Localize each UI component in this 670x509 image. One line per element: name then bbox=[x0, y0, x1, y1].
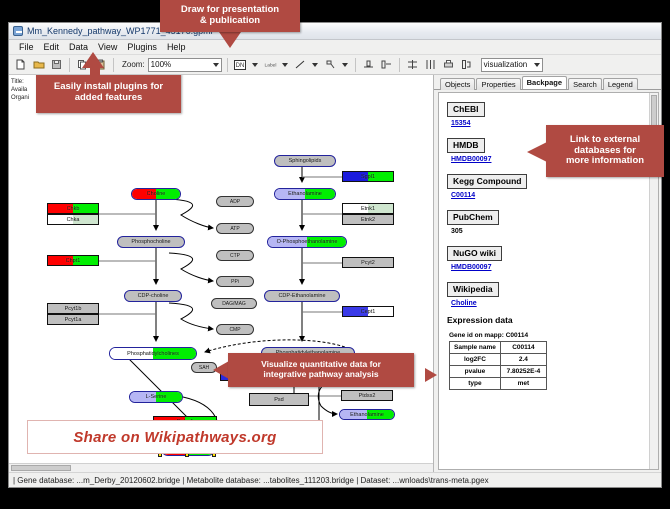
gene-node[interactable]: Etnk2 bbox=[342, 214, 394, 225]
node-label: ADP bbox=[230, 199, 240, 205]
cofactor-node[interactable]: DAG/MAG bbox=[211, 298, 257, 309]
chevron-down-icon bbox=[213, 63, 219, 67]
node-label: DAG/MAG bbox=[222, 301, 246, 307]
callout-plugins-line2: added features bbox=[75, 93, 143, 104]
chevron-down-icon bbox=[534, 63, 540, 67]
backpage-link-kegg[interactable]: C00114 bbox=[451, 192, 658, 199]
menu-help[interactable]: Help bbox=[162, 42, 191, 52]
node-label: Ethanolamine bbox=[350, 412, 384, 418]
callout-visualize: Visualize quantitative data for integrat… bbox=[228, 353, 414, 387]
menu-bar: File Edit Data View Plugins Help bbox=[9, 40, 661, 55]
gene-node[interactable]: Ptdss2 bbox=[341, 390, 393, 401]
backpage-head-pubchem: PubChem bbox=[447, 210, 499, 225]
callout-visualize-arrow bbox=[213, 361, 229, 379]
node-label: CDP-choline bbox=[138, 293, 169, 299]
metabolite-node[interactable]: Phosphocholine bbox=[117, 236, 185, 248]
canvas-hscroll-thumb[interactable] bbox=[11, 465, 71, 471]
toolbar-separator bbox=[227, 58, 228, 72]
node-label: Pcyt1a bbox=[65, 317, 82, 323]
chevron-down-icon bbox=[282, 63, 288, 67]
backpage-head-wikipedia: Wikipedia bbox=[447, 282, 499, 297]
node-label: Etnk1 bbox=[361, 206, 375, 212]
node-label: O-Phosphoethanolamine bbox=[277, 239, 338, 245]
backpage-head-chebi: ChEBI bbox=[447, 102, 485, 117]
backpage-head-nugo: NuGO wiki bbox=[447, 246, 502, 261]
gene-node[interactable]: Chpt1 bbox=[47, 255, 99, 266]
node-label: Phosphocholine bbox=[131, 239, 170, 245]
callout-draw-line2: & publication bbox=[200, 16, 260, 27]
pathway-canvas[interactable]: Title: Availa Organi bbox=[9, 75, 434, 472]
backpage-link-nugo[interactable]: HMDB00097 bbox=[451, 264, 658, 271]
app-icon bbox=[13, 26, 23, 36]
callout-links-arrow-stem bbox=[545, 146, 551, 158]
node-label: Sphingolipids bbox=[289, 158, 322, 164]
chevron-down-icon bbox=[342, 63, 348, 67]
node-label: Pcyt2 bbox=[361, 260, 375, 266]
chevron-down-icon bbox=[252, 63, 258, 67]
canvas-hscrollbar[interactable] bbox=[9, 463, 433, 472]
label-icon[interactable]: Label bbox=[263, 57, 278, 72]
expression-data-title: Expression data bbox=[447, 315, 658, 325]
backpage-link-wikipedia[interactable]: Choline bbox=[451, 300, 658, 307]
stack-icon[interactable] bbox=[405, 57, 420, 72]
line-dropdown[interactable] bbox=[311, 58, 320, 72]
cell-label: pvalue bbox=[450, 366, 501, 378]
backpage-value-pubchem: 305 bbox=[451, 228, 658, 235]
wikipathways-banner: Share on Wikipathways.org bbox=[27, 420, 323, 454]
node-label: Choline bbox=[147, 191, 166, 197]
callout-draw: Draw for presentation & publication bbox=[160, 0, 300, 32]
toolbar-separator bbox=[355, 58, 356, 72]
tab-backpage[interactable]: Backpage bbox=[522, 76, 567, 89]
callout-visualize-line2: integrative pathway analysis bbox=[263, 370, 378, 380]
svg-text:Label: Label bbox=[264, 63, 276, 69]
banner-text: Share on Wikipathways.org bbox=[73, 429, 276, 446]
pathvisio-window: Mm_Kennedy_pathway_WP1771_45176.gpml Fil… bbox=[8, 22, 662, 488]
zoom-value: 100% bbox=[151, 60, 171, 69]
node-label: L-Serine bbox=[146, 394, 167, 400]
callout-draw-arrow bbox=[219, 32, 241, 48]
order-icon[interactable] bbox=[459, 57, 474, 72]
node-label: Sgpl1 bbox=[361, 174, 375, 180]
gene-node[interactable]: Sgpl1 bbox=[342, 171, 394, 182]
menu-plugins[interactable]: Plugins bbox=[122, 42, 162, 52]
cofactor-node[interactable]: PPi bbox=[216, 276, 254, 287]
label-dropdown[interactable] bbox=[281, 58, 290, 72]
visualization-value: visualization bbox=[484, 60, 528, 69]
anchor-dropdown[interactable] bbox=[341, 58, 350, 72]
cell-label: type bbox=[450, 378, 501, 390]
side-panel-tabs: Objects Properties Backpage Search Legen… bbox=[434, 75, 661, 90]
svg-text:DN: DN bbox=[236, 63, 245, 69]
status-bar: | Gene database: ...m_Derby_20120602.bri… bbox=[9, 472, 661, 487]
callout-links-arrow bbox=[527, 142, 547, 162]
menu-file[interactable]: File bbox=[14, 42, 39, 52]
callout-plugins: Easily install plugins for added feature… bbox=[36, 75, 181, 113]
table-row: type met bbox=[450, 378, 547, 390]
gene-node[interactable]: Chkb bbox=[47, 203, 99, 214]
node-label: ATP bbox=[230, 226, 239, 232]
distribute-icon[interactable] bbox=[423, 57, 438, 72]
backpage-head-hmdb: HMDB bbox=[447, 138, 485, 153]
gene-node[interactable]: Etnk1 bbox=[342, 203, 394, 214]
metabolite-node[interactable]: Choline bbox=[131, 188, 181, 200]
datanode-icon[interactable]: DN bbox=[233, 57, 248, 72]
cell-value: 7.80252E-4 bbox=[500, 366, 546, 378]
table-row: log2FC 2.4 bbox=[450, 354, 547, 366]
node-label: Pcyt1b bbox=[65, 306, 82, 312]
group-icon[interactable] bbox=[379, 57, 394, 72]
line-icon[interactable] bbox=[293, 57, 308, 72]
new-icon[interactable] bbox=[13, 57, 28, 72]
cofactor-node[interactable]: ATP bbox=[216, 223, 254, 234]
open-icon[interactable] bbox=[31, 57, 46, 72]
metabolite-node[interactable]: Ethanolamine bbox=[274, 188, 336, 200]
node-label: SAH bbox=[199, 365, 209, 371]
screenshot-root: Mm_Kennedy_pathway_WP1771_45176.gpml Fil… bbox=[0, 0, 670, 509]
toolbar-separator bbox=[399, 58, 400, 72]
callout-links-line3: more information bbox=[566, 156, 644, 167]
save-icon[interactable] bbox=[49, 57, 64, 72]
node-label: Ethanolamine bbox=[288, 191, 322, 197]
callout-links: Link to external databases for more info… bbox=[546, 125, 664, 177]
node-label: Phosphatidylcholines bbox=[127, 351, 179, 357]
zoom-label: Zoom: bbox=[122, 60, 145, 69]
node-label: Chkb bbox=[67, 206, 80, 212]
tab-legend[interactable]: Legend bbox=[603, 78, 638, 90]
expression-table: Sample name C00114 log2FC 2.4 pvalue 7.8… bbox=[449, 341, 547, 390]
cell-value: 2.4 bbox=[500, 354, 546, 366]
callout-plugins-arrow-stem bbox=[90, 66, 100, 78]
menu-view[interactable]: View bbox=[93, 42, 122, 52]
callout-links-line1: Link to external bbox=[570, 135, 640, 146]
metabolite-node[interactable]: CDP-choline bbox=[124, 290, 182, 302]
tab-properties[interactable]: Properties bbox=[476, 78, 520, 90]
tool-bar: Zoom: 100% DN Label bbox=[9, 55, 661, 75]
metabolite-node[interactable]: Phosphatidylcholines bbox=[109, 347, 197, 360]
callout-expression-arrow bbox=[425, 368, 437, 382]
toolbar-separator bbox=[113, 58, 114, 72]
cell-label: log2FC bbox=[450, 354, 501, 366]
gene-id-line: Gene id on mapp: C00114 bbox=[449, 332, 658, 339]
chevron-down-icon bbox=[312, 63, 318, 67]
table-row: Sample name C00114 bbox=[450, 342, 547, 354]
cell-value: C00114 bbox=[500, 342, 546, 354]
tab-search[interactable]: Search bbox=[568, 78, 602, 90]
node-label: Chpt1 bbox=[66, 258, 81, 264]
menu-edit[interactable]: Edit bbox=[39, 42, 65, 52]
node-label: PPi bbox=[231, 279, 239, 285]
visualization-combobox[interactable]: visualization bbox=[481, 58, 543, 72]
datanode-dropdown[interactable] bbox=[251, 58, 260, 72]
title-bar: Mm_Kennedy_pathway_WP1771_45176.gpml bbox=[9, 23, 661, 40]
gene-node[interactable]: Pcyt2 bbox=[342, 257, 394, 268]
table-row: pvalue 7.80252E-4 bbox=[450, 366, 547, 378]
node-label: Chka bbox=[67, 217, 80, 223]
metabolite-node[interactable]: Sphingolipids bbox=[274, 155, 336, 167]
cofactor-node[interactable]: ADP bbox=[216, 196, 254, 207]
status-text: | Gene database: ...m_Derby_20120602.bri… bbox=[13, 476, 489, 485]
metabolite-node[interactable]: O-Phosphoethanolamine bbox=[267, 236, 347, 248]
node-label: CMP bbox=[229, 327, 240, 333]
metabolite-node[interactable]: CDP-Ethanolamine bbox=[264, 290, 340, 302]
backpage-head-kegg: Kegg Compound bbox=[447, 174, 527, 189]
node-label: Cept1 bbox=[361, 309, 376, 315]
menu-data[interactable]: Data bbox=[64, 42, 93, 52]
zoom-combobox[interactable]: 100% bbox=[148, 58, 222, 72]
metabolite-node[interactable]: L-Serine bbox=[129, 391, 183, 403]
metabolite-node[interactable]: Ethanolamine bbox=[339, 409, 395, 420]
cofactor-node[interactable]: CMP bbox=[216, 324, 254, 335]
node-label: CTP bbox=[230, 253, 240, 259]
cell-label: Sample name bbox=[450, 342, 501, 354]
node-label: Psd bbox=[274, 397, 283, 403]
node-label: Ptdss2 bbox=[359, 393, 376, 399]
node-label: Etnk2 bbox=[361, 217, 375, 223]
cell-value: met bbox=[500, 378, 546, 390]
gene-node[interactable]: Pcyt1b bbox=[47, 303, 99, 314]
node-label: CDP-Ethanolamine bbox=[278, 293, 325, 299]
gene-node[interactable]: Psd bbox=[249, 393, 309, 406]
anchor-icon[interactable] bbox=[323, 57, 338, 72]
print-icon[interactable] bbox=[441, 57, 456, 72]
gene-node[interactable]: Pcyt1a bbox=[47, 314, 99, 325]
cofactor-node[interactable]: CTP bbox=[216, 250, 254, 261]
toolbar-separator bbox=[69, 58, 70, 72]
tab-objects[interactable]: Objects bbox=[440, 78, 475, 90]
gene-node[interactable]: Cept1 bbox=[342, 306, 394, 317]
align-icon[interactable] bbox=[361, 57, 376, 72]
gene-node[interactable]: Chka bbox=[47, 214, 99, 225]
